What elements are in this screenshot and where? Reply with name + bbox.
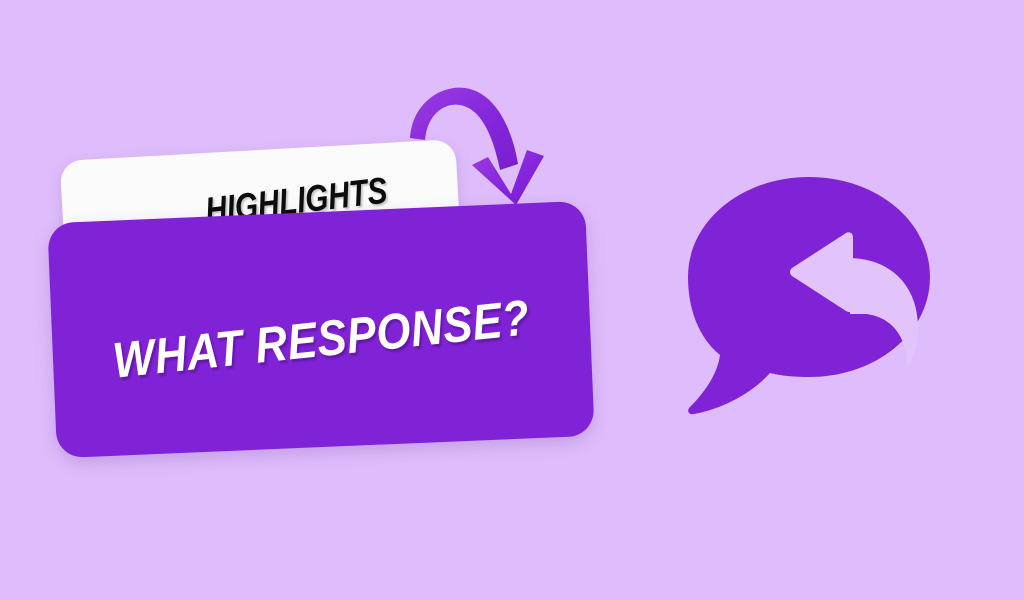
poster-canvas: HIGHLIGHTS WHAT RESPONSE?: [0, 0, 1024, 600]
headline-card: WHAT RESPONSE?: [47, 201, 594, 458]
reply-speech-bubble-icon: [678, 165, 940, 425]
headline-text: WHAT RESPONSE?: [110, 288, 532, 389]
headline-card-text-wrap: WHAT RESPONSE?: [47, 201, 594, 458]
